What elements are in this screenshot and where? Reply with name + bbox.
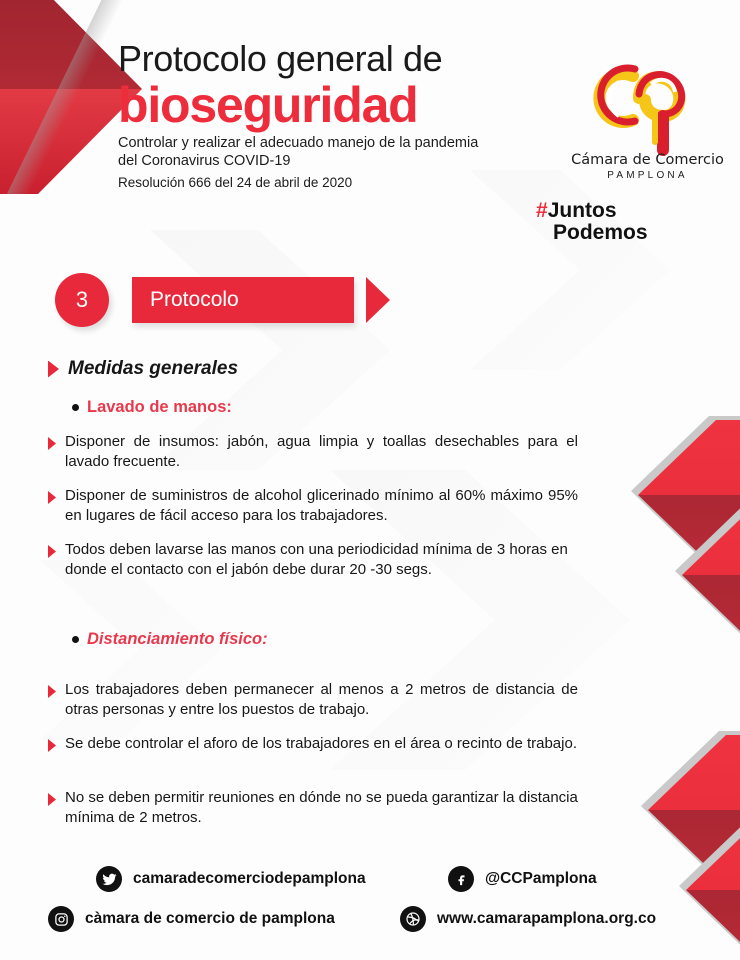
logo-name: Cámara de Comercio [555, 152, 740, 168]
hashtag-line2: Podemos [553, 221, 648, 244]
right-chevron-decoration [682, 500, 740, 650]
section-number-badge: 3 [55, 273, 109, 327]
instagram-handle: càmara de comercio de pamplona [85, 910, 335, 928]
logo-subname: PAMPLONA [555, 170, 740, 181]
triangle-bullet-icon [48, 685, 56, 698]
list-item-text: Disponer de suministros de alcohol glice… [65, 486, 578, 526]
list-item: No se deben permitir reuniones en dónde … [48, 788, 578, 828]
dot-bullet-icon [72, 636, 79, 643]
hashtag-juntos-podemos: #Juntos Podemos [536, 200, 648, 244]
dot-bullet-icon [72, 404, 79, 411]
list-item: Los trabajadores deben permanecer al men… [48, 680, 578, 720]
website-link[interactable]: www.camarapamplona.org.co [400, 906, 656, 932]
banner-arrow-icon [366, 277, 390, 323]
triangle-bullet-icon [48, 437, 56, 450]
globe-icon [400, 906, 426, 932]
list-item-text: No se deben permitir reuniones en dónde … [65, 788, 578, 828]
list-item: Todos deben lavarse las manos con una pe… [48, 540, 578, 580]
social-instagram[interactable]: càmara de comercio de pamplona [48, 906, 335, 932]
triangle-bullet-icon [48, 361, 59, 378]
twitter-icon [96, 866, 122, 892]
subsection-label: Distanciamiento físico: [87, 630, 268, 649]
subtitle: Controlar y realizar el adecuado manejo … [118, 134, 478, 170]
resolution-text: Resolución 666 del 24 de abril de 2020 [118, 175, 352, 190]
section-banner: Protocolo [132, 277, 354, 323]
section-banner-label: Protocolo [132, 288, 239, 312]
list-item: Disponer de insumos: jabón, agua limpia … [48, 432, 578, 472]
subsection-label: Lavado de manos: [87, 398, 232, 417]
header: Protocolo general de bioseguridad Contro… [0, 0, 740, 260]
triangle-bullet-icon [48, 545, 56, 558]
page-title-line1: Protocolo general de [118, 38, 442, 80]
section-heading: Medidas generales [48, 358, 238, 380]
section-heading-label: Medidas generales [68, 358, 238, 380]
subtitle-line1: Controlar y realizar el adecuado manejo … [118, 134, 478, 152]
triangle-bullet-icon [48, 739, 56, 752]
website-url: www.camarapamplona.org.co [437, 910, 656, 928]
social-facebook[interactable]: @CCPamplona [448, 866, 597, 892]
list-item: Se debe controlar el aforo de los trabaj… [48, 734, 578, 754]
subsection-heading-handwashing: Lavado de manos: [72, 398, 232, 417]
list-item-text: Todos deben lavarse las manos con una pe… [65, 540, 578, 580]
poster-page: Protocolo general de bioseguridad Contro… [0, 0, 740, 960]
facebook-icon [448, 866, 474, 892]
hashtag-line1: Juntos [548, 199, 617, 222]
page-title-line2: bioseguridad [118, 76, 418, 134]
subtitle-line2: del Coronavirus COVID-19 [118, 152, 478, 170]
list-item-text: Los trabajadores deben permanecer al men… [65, 680, 578, 720]
triangle-bullet-icon [48, 491, 56, 504]
social-twitter[interactable]: camaradecomerciodepamplona [96, 866, 366, 892]
list-item: Disponer de suministros de alcohol glice… [48, 486, 578, 526]
instagram-icon [48, 906, 74, 932]
list-item-text: Se debe controlar el aforo de los trabaj… [65, 734, 577, 754]
facebook-handle: @CCPamplona [485, 870, 597, 888]
list-item-text: Disponer de insumos: jabón, agua limpia … [65, 432, 578, 472]
hashtag-symbol: # [536, 199, 548, 222]
footer: camaradecomerciodepamplona @CCPamplona c… [0, 858, 740, 958]
subsection-heading-distancing: Distanciamiento físico: [72, 630, 268, 649]
triangle-bullet-icon [48, 793, 56, 806]
twitter-handle: camaradecomerciodepamplona [133, 870, 366, 888]
